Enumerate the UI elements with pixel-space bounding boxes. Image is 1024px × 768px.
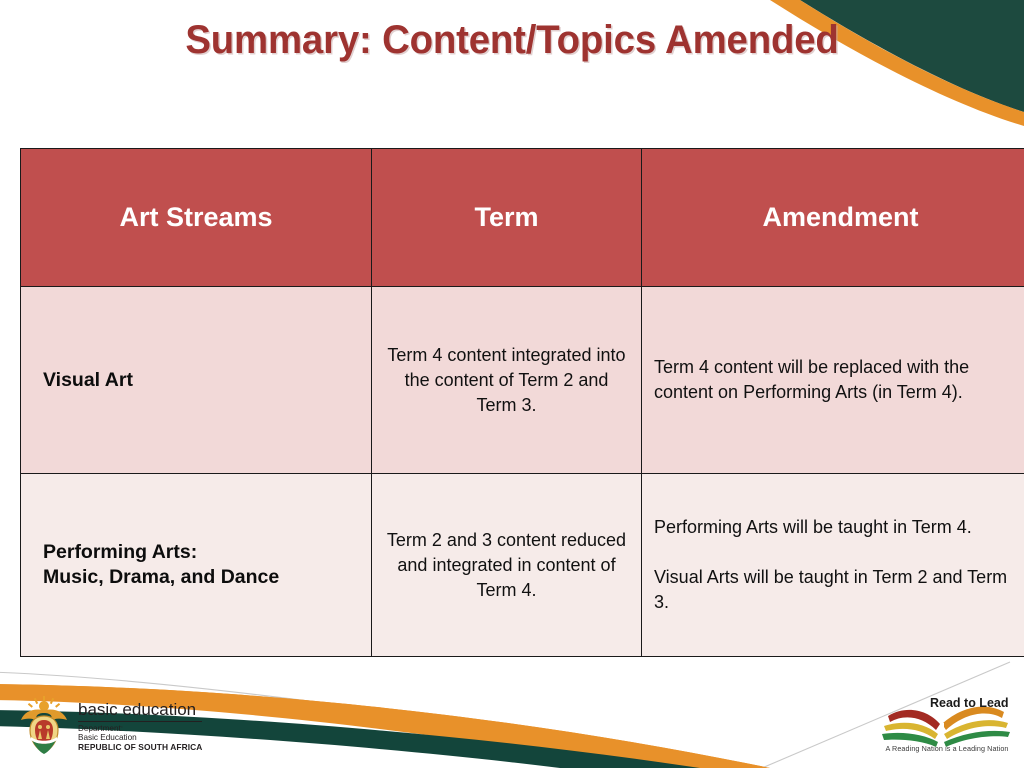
cell-art-stream: Visual Art [21, 287, 372, 474]
page-title: Summary: Content/Topics Amended [80, 16, 944, 64]
dbe-logo: basic education Department: Basic Educat… [18, 692, 248, 760]
table-row: Visual Art Term 4 content integrated int… [21, 287, 1024, 474]
read-to-lead-tagline: A Reading Nation is a Leading Nation [882, 744, 1012, 753]
slide-canvas: Summary: Content/Topics Amended Art Stre… [0, 0, 1024, 768]
read-to-lead-title: Read to Lead [930, 696, 1009, 710]
amendment-paragraph: Term 4 content will be replaced with the… [654, 355, 1024, 405]
cell-amendment: Term 4 content will be replaced with the… [642, 287, 1024, 474]
south-africa-coat-of-arms-icon [18, 696, 70, 756]
cell-term: Term 4 content integrated into the conte… [372, 287, 642, 474]
dbe-logo-subtitle: Department: Basic Education REPUBLIC OF … [78, 724, 202, 753]
dbe-logo-line-3: REPUBLIC OF SOUTH AFRICA [78, 743, 202, 753]
column-header-amendment: Amendment [642, 149, 1024, 287]
dbe-logo-text: basic education Department: Basic Educat… [78, 700, 202, 753]
cell-term: Term 2 and 3 content reduced and integra… [372, 474, 642, 657]
table-header-row: Art Streams Term Amendment [21, 149, 1024, 287]
cell-art-stream: Performing Arts: Music, Drama, and Dance [21, 474, 372, 657]
art-stream-line-1: Performing Arts: [43, 540, 361, 565]
read-to-lead-logo: Read to Lead A Reading Nation is a Leadi… [878, 690, 1014, 762]
column-header-term: Term [372, 149, 642, 287]
art-stream-line-2: Music, Drama, and Dance [43, 565, 361, 590]
amendments-table: Art Streams Term Amendment Visual Art Te… [20, 148, 1024, 657]
amendment-paragraph: Performing Arts will be taught in Term 4… [654, 515, 1024, 540]
table-row: Performing Arts: Music, Drama, and Dance… [21, 474, 1024, 657]
cell-amendment: Performing Arts will be taught in Term 4… [642, 474, 1024, 657]
dbe-logo-title: basic education [78, 700, 202, 722]
dbe-logo-line-1: Department: [78, 724, 202, 734]
column-header-art-streams: Art Streams [21, 149, 372, 287]
amendment-paragraph: Visual Arts will be taught in Term 2 and… [654, 565, 1024, 615]
